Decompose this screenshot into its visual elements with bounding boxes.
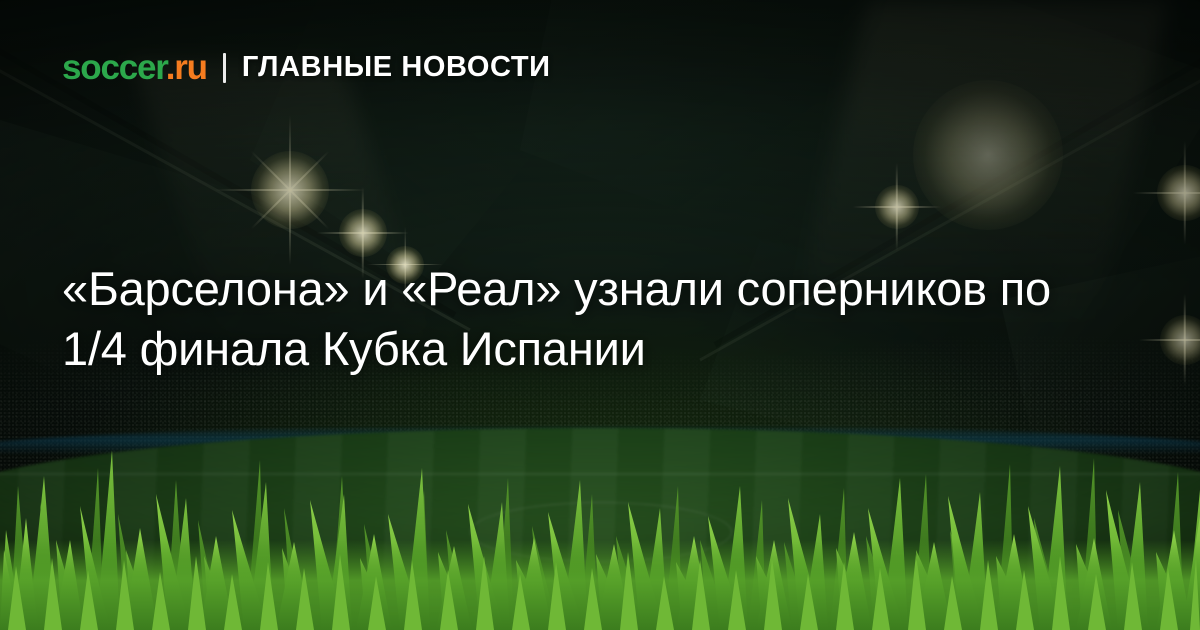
share-card: soccer.ru ГЛАВНЫЕ НОВОСТИ «Барселона» и … [0, 0, 1200, 630]
card-header: soccer.ru ГЛАВНЫЕ НОВОСТИ [62, 50, 551, 85]
logo-tld-text: .ru [166, 48, 207, 87]
header-kicker-label: ГЛАВНЫЕ НОВОСТИ [242, 53, 551, 82]
foreground-grass [0, 390, 1200, 630]
logo-brand-text: soccer [62, 48, 166, 87]
page-title: «Барселона» и «Реал» узнали соперников п… [62, 259, 1072, 379]
header-divider [223, 53, 226, 83]
soccer-ru-logo[interactable]: soccer.ru [62, 50, 207, 85]
